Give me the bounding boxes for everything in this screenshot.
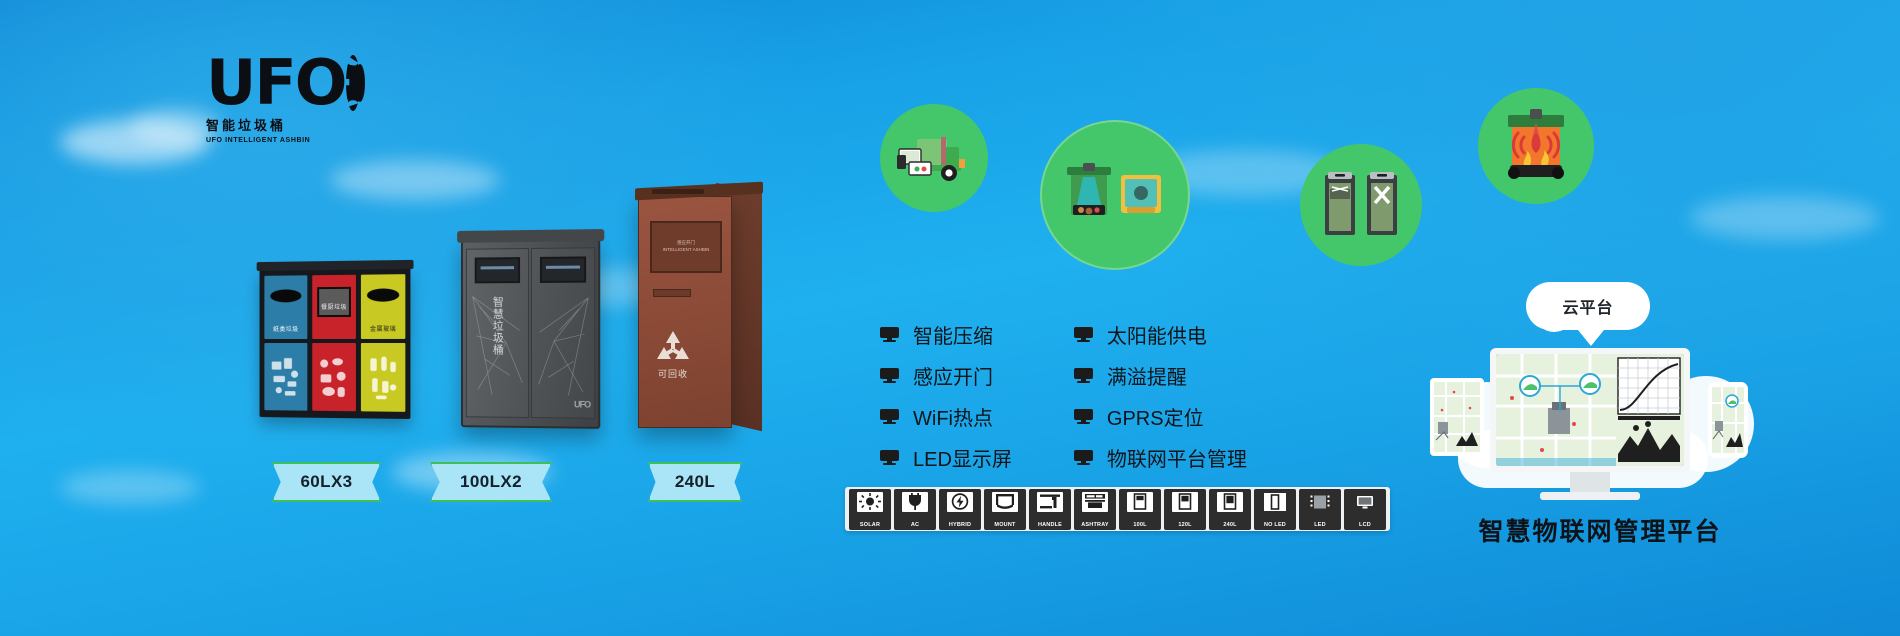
capacity-tag-label: 240L: [675, 472, 715, 492]
ashtray-icon: [1082, 492, 1108, 512]
led-panel-icon: [1307, 492, 1333, 512]
drop-slot-icon: [270, 289, 301, 302]
feature-label: GPRS定位: [1107, 402, 1204, 431]
feature-label: 满溢提醒: [1107, 361, 1187, 390]
feature-label: 太阳能供电: [1107, 320, 1207, 349]
arrow-down-icon: [1578, 330, 1604, 346]
compartment-lower-panel: [264, 343, 307, 411]
bin-panel-text: 感应开门 INTELLIGENT ASHBIN: [652, 239, 720, 253]
option-label: 120L: [1164, 522, 1206, 528]
option-handle[interactable]: HANDLE: [1029, 489, 1071, 530]
recycle-mark: 可回收: [639, 329, 707, 380]
option-label: LCD: [1344, 522, 1386, 528]
burning-bin-alarm-icon: [1496, 109, 1576, 183]
option-no-led[interactable]: NO LED: [1254, 489, 1296, 530]
monitor-icon: [1074, 327, 1093, 342]
compartment-label: 纸类垃圾: [264, 324, 307, 333]
feature-item: 满溢提醒: [1074, 361, 1247, 390]
map-thumbnail: [1434, 382, 1480, 452]
feature-circle-fill-level-sensing: [1300, 144, 1422, 266]
bin-door-right: UFO: [531, 247, 595, 418]
twin-bin-sensor-icon: [1319, 169, 1403, 241]
option-100l[interactable]: 100L: [1119, 489, 1161, 530]
map-thumbnail: [1712, 387, 1744, 453]
capacity-tag-label: 60LX3: [300, 472, 352, 492]
option-led[interactable]: LED: [1299, 489, 1341, 530]
web-pattern-decoration: [536, 289, 590, 398]
bin-info-panel: 感应开门 INTELLIGENT ASHBIN: [650, 221, 722, 273]
banner-stage: UFO 智能垃圾桶 UFO INTELLIGENT ASHBIN 纸类垃圾: [0, 0, 1900, 636]
option-label: SOLAR: [849, 522, 891, 528]
cloud-decoration: [60, 120, 210, 164]
drop-slot-icon: [367, 288, 399, 301]
bin-compartment-blue: 纸类垃圾: [264, 275, 307, 410]
monitor-icon: [1074, 368, 1093, 383]
device-tablet: [1430, 378, 1484, 456]
option-ac[interactable]: AC: [894, 489, 936, 530]
compartment-window: 餐厨垃圾: [317, 287, 351, 317]
bin-compartment-yellow: 金属玻璃: [361, 274, 405, 412]
feature-item: LED显示屏: [880, 443, 1012, 472]
bin-panel-line2: INTELLIGENT ASHBIN: [663, 247, 710, 252]
option-label: HYBRID: [939, 522, 981, 528]
product-sorting-bin: 纸类垃圾 餐厨垃圾: [260, 267, 411, 419]
option-label: 100L: [1119, 522, 1161, 528]
option-label: HANDLE: [1029, 522, 1071, 528]
feature-list: 智能压缩 感应开门 WiFi热点 LED显示屏 太阳能供电 满溢提醒: [880, 320, 1247, 472]
bin-240l-icon: [1217, 492, 1243, 512]
feature-label: 感应开门: [913, 361, 993, 390]
capacity-tag-label: 100LX2: [460, 472, 522, 492]
bin-lid-window: [652, 189, 704, 194]
option-120l[interactable]: 120L: [1164, 489, 1206, 530]
sun-icon: [857, 492, 883, 512]
feature-item: GPRS定位: [1074, 402, 1247, 431]
logo-mark: UFO: [206, 52, 336, 114]
map-illustration: [1712, 387, 1744, 453]
cloud-platform-label: 云平台: [1562, 294, 1613, 318]
feature-column-right: 太阳能供电 满溢提醒 GPRS定位 物联网平台管理: [1074, 320, 1247, 472]
option-mount[interactable]: MOUNT: [984, 489, 1026, 530]
feature-circle-fleet-management: [880, 104, 988, 212]
option-icon-strip: SOLAR AC HYBRID MOUNT: [845, 487, 1390, 531]
paper-waste-illustration: [268, 351, 303, 405]
cloud-decoration: [330, 160, 500, 200]
bin-vertical-label: 智慧垃圾桶: [490, 293, 504, 359]
bin-brand-mark: UFO: [574, 399, 590, 409]
option-solar[interactable]: SOLAR: [849, 489, 891, 530]
metal-glass-illustration: [365, 351, 401, 406]
handle-icon: [1037, 492, 1063, 512]
option-label: LED: [1299, 522, 1341, 528]
food-waste-illustration: [316, 351, 352, 405]
monitor-icon: [880, 409, 899, 424]
option-lcd[interactable]: LCD: [1344, 489, 1386, 530]
device-smartphone: [1708, 382, 1748, 458]
compartment-label: 金属玻璃: [361, 324, 405, 333]
product-recycling-bin: 感应开门 INTELLIGENT ASHBIN 可回收: [638, 196, 746, 428]
feature-item: WiFi热点: [880, 402, 1012, 431]
compartment-label: 餐厨垃圾: [319, 302, 349, 311]
wall-mount-icon: [992, 492, 1018, 512]
power-plug-icon: [902, 492, 928, 512]
garbage-truck-dashboard-icon: [897, 129, 971, 187]
compartment-upper-panel: 金属玻璃: [361, 274, 405, 339]
feature-circle-fire-alarm: [1478, 88, 1594, 204]
product-twin-smart-bin: 智慧垃圾桶 UFO: [461, 237, 600, 429]
feature-item: 智能压缩: [880, 320, 1012, 349]
option-label: ASHTRAY: [1074, 522, 1116, 528]
compartment-upper-panel: 纸类垃圾: [264, 275, 307, 339]
bin-front-face: 感应开门 INTELLIGENT ASHBIN 可回收: [638, 196, 732, 428]
bin-compartment-red: 餐厨垃圾: [312, 275, 356, 412]
iot-platform-illustration: 云平台: [1430, 296, 1770, 526]
option-label: AC: [894, 522, 936, 528]
bin-lid: [457, 229, 604, 243]
option-label: NO LED: [1254, 522, 1296, 528]
monitor-base: [1540, 492, 1640, 500]
option-240l[interactable]: 240L: [1209, 489, 1251, 530]
cloud-decoration: [1690, 196, 1880, 240]
capacity-tag-240l: 240L: [648, 462, 742, 502]
feature-label: WiFi热点: [913, 402, 993, 431]
capacity-tag-100lx2: 100LX2: [430, 462, 552, 502]
device-desktop-monitor: [1490, 348, 1690, 472]
monitor-icon: [1074, 450, 1093, 465]
compartment-lower-panel: [361, 343, 405, 412]
monitor-stand: [1570, 472, 1610, 494]
feature-label: LED显示屏: [913, 443, 1012, 472]
led-display-screen: [540, 256, 586, 282]
bin-sensor-strip: [653, 289, 691, 297]
brand-logo: UFO 智能垃圾桶 UFO INTELLIGENT ASHBIN: [206, 52, 336, 144]
feature-item: 太阳能供电: [1074, 320, 1247, 349]
cloud-decoration: [60, 470, 200, 504]
led-display-screen: [475, 257, 520, 283]
platform-caption: 智慧物联网管理平台: [1440, 512, 1760, 548]
compartment-upper-panel: 餐厨垃圾: [312, 275, 356, 339]
logo-wordmark: UFO: [206, 52, 345, 114]
feature-circle-auto-compaction: [1040, 120, 1190, 270]
recycle-label: 可回收: [639, 367, 707, 380]
monitor-icon: [880, 368, 899, 383]
recycle-icon: [653, 329, 693, 365]
logo-english-name: UFO INTELLIGENT ASHBIN: [206, 137, 336, 144]
monitor-screen: [1496, 354, 1684, 466]
no-led-icon: [1262, 492, 1288, 512]
bin-door-left: 智慧垃圾桶: [466, 248, 529, 418]
monitor-icon: [880, 450, 899, 465]
dashboard-illustration: [1496, 354, 1684, 466]
monitor-icon: [1074, 409, 1093, 424]
bin-compactor-icon: [1065, 161, 1165, 229]
option-label: 240L: [1209, 522, 1251, 528]
bin-100l-icon: [1127, 492, 1153, 512]
feature-item: 物联网平台管理: [1074, 443, 1247, 472]
hybrid-bolt-icon: [947, 492, 973, 512]
feature-label: 物联网平台管理: [1107, 443, 1247, 472]
feature-item: 感应开门: [880, 361, 1012, 390]
capacity-tag-60lx3: 60LX3: [272, 462, 381, 502]
option-hybrid[interactable]: HYBRID: [939, 489, 981, 530]
bin-panel-line1: 感应开门: [677, 240, 695, 245]
lcd-screen-icon: [1352, 492, 1378, 512]
monitor-icon: [880, 327, 899, 342]
bin-120l-icon: [1172, 492, 1198, 512]
map-illustration: [1434, 382, 1480, 452]
option-ashtray[interactable]: ASHTRAY: [1074, 489, 1116, 530]
feature-column-left: 智能压缩 感应开门 WiFi热点 LED显示屏: [880, 320, 1012, 472]
feature-label: 智能压缩: [913, 320, 993, 349]
option-label: MOUNT: [984, 522, 1026, 528]
compartment-lower-panel: [312, 343, 356, 411]
